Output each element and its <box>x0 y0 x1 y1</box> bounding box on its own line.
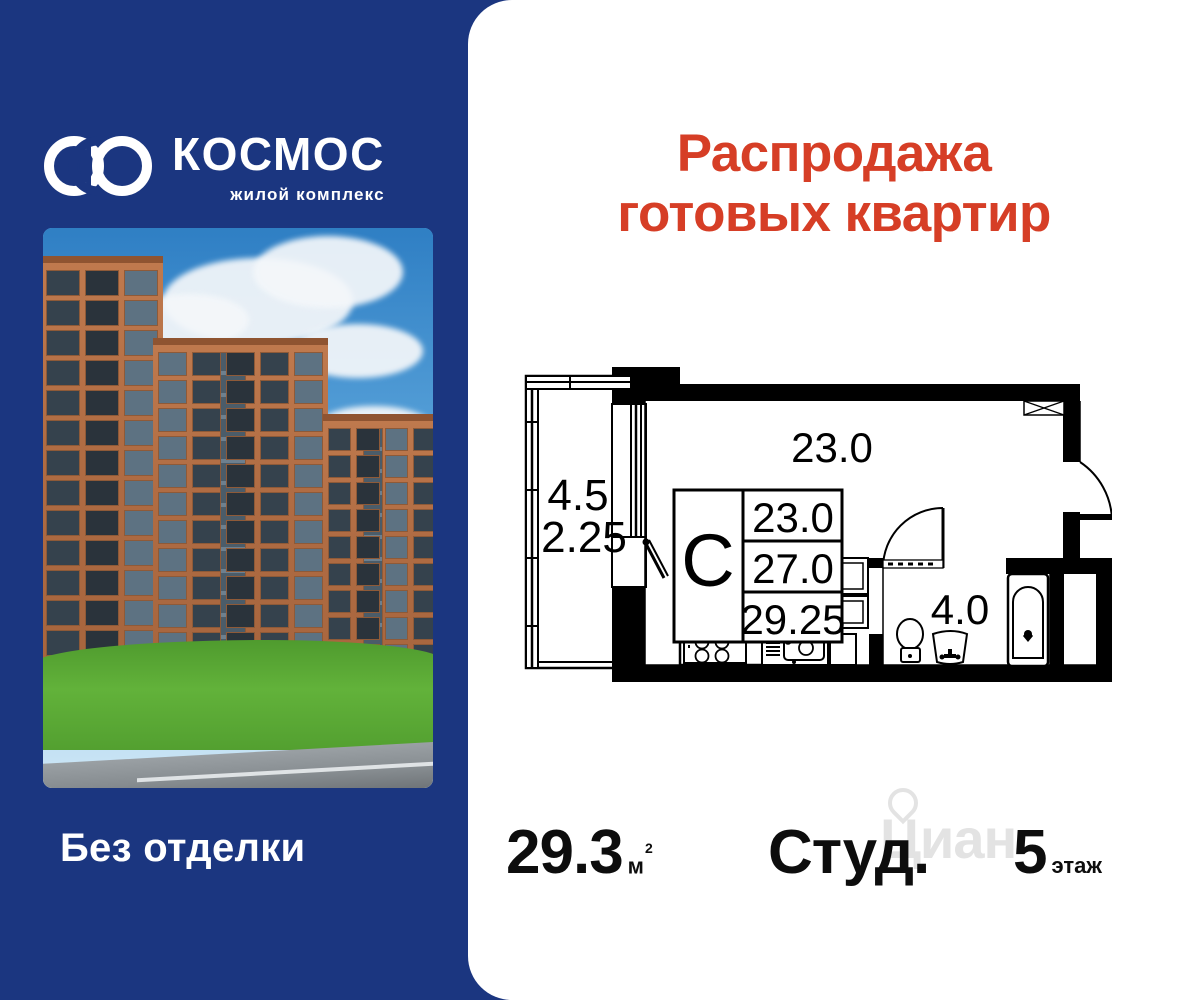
headline-line-2: готовых квартир <box>468 184 1200 244</box>
floor-value: 5 <box>1013 822 1046 884</box>
apartment-type-letter: С <box>681 519 734 602</box>
legend-row-2: 27.0 <box>752 545 834 592</box>
area-value: 29.3 <box>506 822 623 884</box>
floor-unit: этаж <box>1051 855 1101 877</box>
balcony-reduced-area-label: 2.25 <box>541 513 627 562</box>
roof-edge <box>43 256 163 263</box>
legend-row-3: 29.25 <box>740 596 845 643</box>
apartment-type-stat: Студ. <box>768 822 929 884</box>
brand-subtitle: жилой комплекс <box>172 186 385 203</box>
legend-row-1: 23.0 <box>752 494 834 541</box>
apartment-type-value: Студ. <box>768 822 929 884</box>
headline-line-1: Распродажа <box>677 124 992 183</box>
roof-edge <box>323 414 433 421</box>
floor-plan: 4.5 2.25 23.0 С 23.0 27.0 29.25 4.0 <box>512 362 1112 692</box>
area-stat: 29.3 м2 <box>506 822 652 884</box>
bathroom-area-label: 4.0 <box>931 586 989 633</box>
infinity-loops-icon <box>42 135 154 197</box>
finishing-caption: Без отделки <box>60 826 305 871</box>
roof-edge <box>153 338 328 345</box>
cloud-shape <box>253 236 403 308</box>
brand-name: КОСМОС <box>172 131 385 177</box>
listing-card: КОСМОС жилой комплекс <box>0 0 1200 1000</box>
living-area-label: 23.0 <box>791 424 873 471</box>
area-unit: м2 <box>628 853 652 877</box>
floor-stat: 5 этаж <box>1013 822 1102 884</box>
lawn <box>43 640 433 750</box>
residential-complex-photo <box>43 228 433 788</box>
listing-stats: 29.3 м2 Студ. 5 этаж <box>468 808 1200 908</box>
page-title: Распродажа готовых квартир <box>468 124 1200 244</box>
area-unit-superscript: 2 <box>645 840 653 856</box>
brand-logo: КОСМОС жилой комплекс <box>42 118 442 214</box>
